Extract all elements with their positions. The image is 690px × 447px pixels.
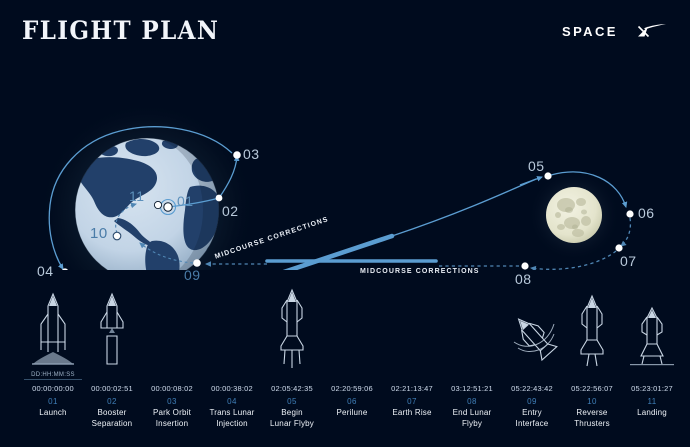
reverse-thrusters-icon bbox=[559, 288, 625, 370]
timeline-item-entry-interface[interactable]: . 05:22:43:42 09 EntryInterface bbox=[499, 288, 565, 447]
waypoint-dot-06 bbox=[626, 210, 633, 217]
timeline-time: 00:00:00:00 bbox=[20, 383, 86, 395]
timeline-name: EntryInterface bbox=[499, 408, 565, 429]
timeline-time: 05:22:56:07 bbox=[559, 383, 625, 395]
traj-into-05 bbox=[520, 177, 542, 185]
waypoint-label-08: 08 bbox=[515, 271, 532, 287]
timeline-name: Park OrbitInsertion bbox=[139, 408, 205, 429]
page-title: FLIGHT PLAN bbox=[22, 16, 219, 45]
time-format-spacer: . bbox=[203, 370, 261, 380]
waypoint-dot-03 bbox=[233, 151, 241, 159]
timeline-time: 00:00:38:02 bbox=[199, 383, 265, 395]
timeline-index: 01 bbox=[20, 395, 86, 408]
timeline-index: 08 bbox=[439, 395, 505, 408]
timeline-time: 02:20:59:06 bbox=[319, 383, 385, 395]
timeline-name: Landing bbox=[619, 408, 685, 419]
none-icon bbox=[319, 288, 385, 370]
timeline-time: 03:12:51:21 bbox=[439, 383, 505, 395]
moon-body bbox=[546, 187, 602, 243]
timeline-index: 10 bbox=[559, 395, 625, 408]
rocket-launch-icon bbox=[20, 288, 86, 370]
timeline-time: 02:21:13:47 bbox=[379, 383, 445, 395]
reentry-icon bbox=[499, 288, 565, 370]
none-icon bbox=[379, 288, 445, 370]
timeline-time: 00:00:02:51 bbox=[79, 383, 145, 395]
waypoint-dot-08 bbox=[521, 262, 528, 269]
waypoint-label-03: 03 bbox=[243, 146, 260, 162]
timeline-name: BoosterSeparation bbox=[79, 408, 145, 429]
none-icon bbox=[199, 288, 265, 370]
midcourse-label-inbound: MIDCOURSE CORRECTIONS bbox=[360, 268, 480, 275]
timeline-name: ReverseThrusters bbox=[559, 408, 625, 429]
timeline-index: 06 bbox=[319, 395, 385, 408]
waypoint-label-11: 11 bbox=[129, 188, 145, 204]
time-format-spacer: . bbox=[83, 370, 141, 380]
timeline-name: Perilune bbox=[319, 408, 385, 419]
timeline-time: 05:22:43:42 bbox=[499, 383, 565, 395]
timeline-name: End LunarFlyby bbox=[439, 408, 505, 429]
waypoint-label-07: 07 bbox=[620, 253, 637, 269]
time-format-spacer: . bbox=[383, 370, 441, 380]
time-format-spacer: . bbox=[503, 370, 561, 380]
timeline-index: 07 bbox=[379, 395, 445, 408]
spacex-logo: SPACE bbox=[558, 20, 668, 44]
timeline-index: 09 bbox=[499, 395, 565, 408]
time-format-spacer: . bbox=[143, 370, 201, 380]
timeline-name: BeginLunar Flyby bbox=[259, 408, 325, 429]
time-format-header: DD:HH:MM:SS bbox=[24, 370, 82, 380]
timeline-item-landing[interactable]: . 05:23:01:27 11 Landing bbox=[619, 288, 685, 447]
timeline-item-begin-lunar-flyby[interactable]: . 02:05:42:35 05 BeginLunar Flyby bbox=[259, 288, 325, 447]
waypoint-label-09: 09 bbox=[184, 267, 201, 283]
waypoint-label-10: 10 bbox=[90, 225, 108, 242]
time-format-spacer: . bbox=[323, 370, 381, 380]
timeline-name: Launch bbox=[20, 408, 86, 419]
waypoint-dot-11 bbox=[154, 201, 161, 208]
starship-icon bbox=[259, 288, 325, 370]
timeline-index: 04 bbox=[199, 395, 265, 408]
landing-icon bbox=[619, 288, 685, 370]
time-format-spacer: . bbox=[443, 370, 501, 380]
timeline-name: Earth Rise bbox=[379, 408, 445, 419]
waypoint-label-01: 01 bbox=[177, 193, 194, 209]
flight-plan-infographic: FLIGHT PLAN SPACE bbox=[0, 0, 690, 447]
waypoint-dot-02 bbox=[216, 195, 223, 202]
timeline-index: 05 bbox=[259, 395, 325, 408]
timeline-item-reverse-thrusters[interactable]: . 05:22:56:07 10 ReverseThrusters bbox=[559, 288, 625, 447]
waypoint-label-02: 02 bbox=[222, 203, 239, 219]
timeline-time: 00:00:08:02 bbox=[139, 383, 205, 395]
booster-separation-icon bbox=[79, 288, 145, 370]
timeline-index: 02 bbox=[79, 395, 145, 408]
waypoint-dot-10 bbox=[113, 232, 121, 240]
waypoint-dot-07 bbox=[615, 244, 622, 251]
timeline-index: 11 bbox=[619, 395, 685, 408]
none-icon bbox=[439, 288, 505, 370]
timeline-item-launch[interactable]: DD:HH:MM:SS 00:00:00:00 01 Launch bbox=[20, 288, 86, 447]
trajectory-diagram: 01 02 03 04 05 06 07 08 09 10 11 MIDCOUR… bbox=[0, 55, 690, 270]
time-format-spacer: . bbox=[623, 370, 681, 380]
timeline-name: Trans LunarInjection bbox=[199, 408, 265, 429]
none-icon bbox=[139, 288, 205, 370]
timeline-item-earth-rise[interactable]: . 02:21:13:47 07 Earth Rise bbox=[379, 288, 445, 447]
waypoint-dot-01 bbox=[164, 203, 172, 211]
timeline-item-trans-lunar-injection[interactable]: . 00:00:38:02 04 Trans LunarInjection bbox=[199, 288, 265, 447]
mission-timeline: DD:HH:MM:SS 00:00:00:00 01 Launch bbox=[0, 288, 690, 447]
timeline-time: 05:23:01:27 bbox=[619, 383, 685, 395]
timeline-item-perilune[interactable]: . 02:20:59:06 06 Perilune bbox=[319, 288, 385, 447]
waypoint-dot-09 bbox=[193, 259, 201, 267]
waypoint-label-04: 04 bbox=[37, 263, 54, 279]
timeline-index: 03 bbox=[139, 395, 205, 408]
time-format-spacer: . bbox=[263, 370, 321, 380]
timeline-item-end-lunar-flyby[interactable]: . 03:12:51:21 08 End LunarFlyby bbox=[439, 288, 505, 447]
timeline-item-park-orbit-insertion[interactable]: . 00:00:08:02 03 Park OrbitInsertion bbox=[139, 288, 205, 447]
traj-outbound-thin bbox=[392, 179, 536, 236]
timeline-time: 02:05:42:35 bbox=[259, 383, 325, 395]
timeline-item-booster-separation[interactable]: . 00:00:02:51 02 BoosterSeparation bbox=[79, 288, 145, 447]
svg-text:SPACE: SPACE bbox=[562, 24, 618, 39]
waypoint-label-05: 05 bbox=[528, 158, 545, 174]
waypoint-dot-05 bbox=[544, 172, 551, 179]
time-format-spacer: . bbox=[563, 370, 621, 380]
waypoint-label-06: 06 bbox=[638, 205, 655, 221]
traj-06-07 bbox=[621, 218, 630, 246]
